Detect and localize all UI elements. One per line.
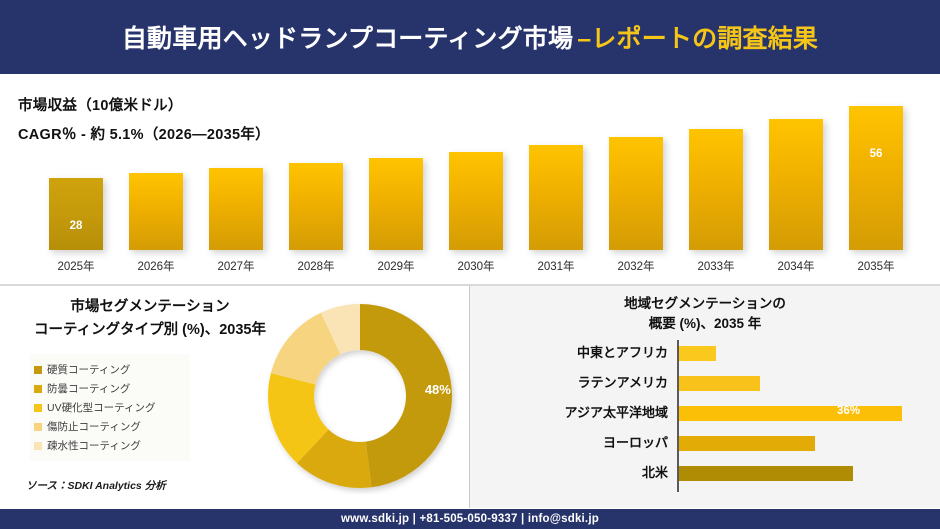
region-title: 地域セグメンテーションの 概要 (%)、2035 年: [470, 294, 940, 334]
region-bar-value: 36%: [837, 405, 860, 417]
donut-value-label: 48%: [425, 382, 451, 397]
page-footer: www.sdki.jp | +81-505-050-9337 | info@sd…: [0, 509, 940, 529]
legend-swatch-icon: [34, 404, 42, 412]
segmentation-legend: 硬質コーティング防曇コーティングUV硬化型コーティング傷防止コーティング疎水性コ…: [30, 354, 190, 461]
region-bar[interactable]: 36%: [679, 406, 902, 421]
source-note: ソース：SDKI Analytics 分析: [26, 478, 166, 493]
revenue-bar-slot: 2033年: [682, 96, 750, 276]
legend-item-label: 硬質コーティング: [47, 362, 130, 377]
revenue-bar-slot: 2027年: [202, 96, 270, 276]
revenue-bar-label: 2032年: [602, 258, 670, 274]
revenue-bar-value: 56: [849, 148, 903, 160]
revenue-bar-label: 2034年: [762, 258, 830, 274]
legend-item[interactable]: UV硬化型コーティング: [34, 398, 184, 417]
region-label: 中東とアフリカ: [470, 338, 668, 368]
region-label: ラテンアメリカ: [470, 368, 668, 398]
revenue-bars-area: 282025年2026年2027年2028年2029年2030年2031年203…: [40, 96, 920, 276]
revenue-bar-label: 2027年: [202, 258, 270, 274]
donut-chart: 48%: [262, 298, 458, 494]
legend-item[interactable]: 防曇コーティング: [34, 379, 184, 398]
segmentation-panel: 市場セグメンテーション コーティングタイプ別 (%)、2035年 硬質コーティン…: [0, 286, 468, 508]
revenue-bar[interactable]: [209, 168, 263, 250]
revenue-bar-label: 2031年: [522, 258, 590, 274]
revenue-bar-slot: 2032年: [602, 96, 670, 276]
page-title-accent: レポートの調査結果: [591, 25, 818, 53]
region-row: アジア太平洋地域36%: [470, 398, 940, 428]
region-title-line1: 地域セグメンテーションの: [470, 294, 940, 314]
region-bar[interactable]: [679, 346, 716, 361]
infographic-page: 自動車用ヘッドランプコーティング市場–レポートの調査結果 市場収益（10億米ドル…: [0, 0, 940, 529]
revenue-chart-panel: 市場収益（10億米ドル） CAGR％ - 約 5.1%（2026―2035年） …: [0, 78, 940, 283]
revenue-bar-label: 2033年: [682, 258, 750, 274]
page-title-dash: –: [573, 25, 591, 53]
legend-item[interactable]: 傷防止コーティング: [34, 417, 184, 436]
revenue-bar[interactable]: [609, 137, 663, 250]
legend-item-label: 防曇コーティング: [47, 381, 130, 396]
region-row: ヨーロッパ: [470, 428, 940, 458]
revenue-bar-slot: 2031年: [522, 96, 590, 276]
legend-item-label: 疎水性コーティング: [47, 438, 141, 453]
revenue-bar[interactable]: [369, 158, 423, 250]
page-header: 自動車用ヘッドランプコーティング市場–レポートの調査結果: [0, 0, 940, 74]
region-row: 北米: [470, 458, 940, 488]
legend-swatch-icon: [34, 366, 42, 374]
revenue-bar[interactable]: [689, 129, 743, 250]
revenue-bar-label: 2029年: [362, 258, 430, 274]
region-row: 中東とアフリカ: [470, 338, 940, 368]
revenue-bar[interactable]: [769, 119, 823, 250]
revenue-bar[interactable]: [129, 173, 183, 250]
region-label: アジア太平洋地域: [470, 398, 668, 428]
revenue-bar[interactable]: [529, 145, 583, 250]
legend-swatch-icon: [34, 385, 42, 393]
region-label: ヨーロッパ: [470, 428, 668, 458]
revenue-bar-slot: 2029年: [362, 96, 430, 276]
revenue-bar-label: 2028年: [282, 258, 350, 274]
page-title: 自動車用ヘッドランプコーティング市場–レポートの調査結果: [122, 19, 818, 55]
legend-swatch-icon: [34, 423, 42, 431]
revenue-bar-slot: 282025年: [42, 96, 110, 276]
region-title-line2: 概要 (%)、2035 年: [470, 314, 940, 334]
legend-item[interactable]: 疎水性コーティング: [34, 436, 184, 455]
region-bar[interactable]: [679, 466, 853, 481]
revenue-bar[interactable]: [449, 152, 503, 250]
region-label: 北米: [470, 458, 668, 488]
region-bar[interactable]: [679, 376, 760, 391]
revenue-bar-slot: 2034年: [762, 96, 830, 276]
revenue-bar[interactable]: 56: [849, 106, 903, 250]
region-row: ラテンアメリカ: [470, 368, 940, 398]
revenue-bar-label: 2035年: [842, 258, 910, 274]
region-bars-area: 中東とアフリカラテンアメリカアジア太平洋地域36%ヨーロッパ北米: [470, 338, 940, 498]
segmentation-title-line1: 市場セグメンテーション: [0, 296, 300, 319]
revenue-bar-slot: 2030年: [442, 96, 510, 276]
legend-swatch-icon: [34, 442, 42, 450]
legend-item-label: UV硬化型コーティング: [47, 400, 155, 415]
revenue-bar[interactable]: [289, 163, 343, 250]
revenue-bar-value: 28: [49, 220, 103, 232]
revenue-bar-slot: 2028年: [282, 96, 350, 276]
segmentation-title-line2: コーティングタイプ別 (%)、2035年: [0, 319, 300, 342]
revenue-bar-slot: 2026年: [122, 96, 190, 276]
revenue-bar-slot: 562035年: [842, 96, 910, 276]
legend-item-label: 傷防止コーティング: [47, 419, 141, 434]
revenue-bar-label: 2026年: [122, 258, 190, 274]
segmentation-title: 市場セグメンテーション コーティングタイプ別 (%)、2035年: [0, 296, 300, 342]
revenue-bar[interactable]: 28: [49, 178, 103, 250]
region-bar[interactable]: [679, 436, 815, 451]
page-title-main: 自動車用ヘッドランプコーティング市場: [122, 25, 573, 53]
revenue-bar-label: 2025年: [42, 258, 110, 274]
region-panel: 地域セグメンテーションの 概要 (%)、2035 年 中東とアフリカラテンアメリ…: [470, 286, 940, 508]
footer-contact[interactable]: www.sdki.jp | +81-505-050-9337 | info@sd…: [341, 513, 599, 525]
legend-item[interactable]: 硬質コーティング: [34, 360, 184, 379]
revenue-bar-label: 2030年: [442, 258, 510, 274]
